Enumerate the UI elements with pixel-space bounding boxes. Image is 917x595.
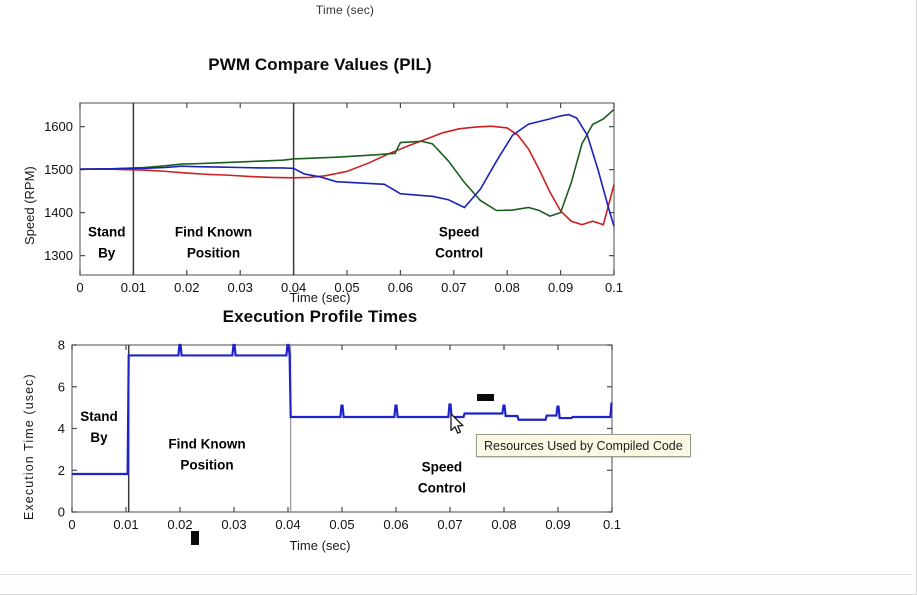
phase-annotation: Position [187, 245, 240, 260]
chart-exec-x-axis-label: Time (sec) [0, 538, 640, 553]
stray-axis-label-top: Time (sec) [0, 3, 690, 17]
phase-annotation: Control [435, 245, 483, 260]
y-tick-label: 1500 [44, 162, 73, 177]
phase-annotation: By [98, 245, 116, 260]
mouse-pointer-icon [450, 413, 466, 437]
plot-frame [72, 345, 612, 512]
plot-frame [80, 103, 614, 275]
phase-annotation: Position [180, 457, 233, 472]
chart-exec-plot-area[interactable]: 00.010.020.030.040.050.060.070.080.090.1… [0, 305, 720, 537]
x-tick-label: 0.03 [221, 517, 246, 532]
x-tick-label: 0.02 [174, 280, 199, 295]
x-tick-label: 0.06 [388, 280, 413, 295]
page-bottom-divider [0, 574, 912, 575]
series-phase-a [80, 126, 614, 224]
x-tick-label: 0.07 [441, 280, 466, 295]
x-tick-label: 0.04 [281, 280, 306, 295]
x-tick-label: 0.08 [491, 517, 516, 532]
x-tick-label: 0.02 [167, 517, 192, 532]
y-tick-label: 1400 [44, 205, 73, 220]
x-tick-label: 0.05 [329, 517, 354, 532]
phase-annotation: Find Known [175, 224, 252, 239]
phase-annotation: Speed [422, 459, 463, 474]
x-tick-label: 0.1 [603, 517, 621, 532]
phase-annotation: Speed [439, 224, 480, 239]
x-tick-label: 0.01 [121, 280, 146, 295]
compression-artifact-block [191, 531, 199, 545]
compression-artifact-block [477, 394, 494, 401]
y-tick-label: 1600 [44, 119, 73, 134]
y-tick-label: 0 [58, 505, 65, 520]
chart-pwm-compare-values: PWM Compare Values (PIL) Speed (RPM) Tim… [0, 55, 700, 310]
x-tick-label: 0 [76, 280, 83, 295]
chart-pwm-plot-area[interactable]: 00.010.020.030.040.050.060.070.080.090.1… [0, 55, 700, 290]
tooltip-resources-used: Resources Used by Compiled Code [476, 434, 691, 457]
x-tick-label: 0.07 [437, 517, 462, 532]
x-tick-label: 0.06 [383, 517, 408, 532]
y-tick-label: 6 [58, 379, 65, 394]
x-tick-label: 0.05 [334, 280, 359, 295]
x-tick-label: 0.03 [228, 280, 253, 295]
phase-annotation: Stand [88, 224, 126, 239]
x-tick-label: 0.04 [275, 517, 300, 532]
document-page: Time (sec) PWM Compare Values (PIL) Spee… [0, 0, 912, 575]
chart-pwm-x-axis-label: Time (sec) [0, 290, 640, 305]
x-tick-label: 0 [68, 517, 75, 532]
y-tick-label: 4 [58, 421, 65, 436]
y-tick-label: 2 [58, 463, 65, 478]
x-tick-label: 0.1 [605, 280, 623, 295]
phase-annotation: Control [418, 480, 466, 495]
phase-annotation: By [90, 430, 108, 445]
x-tick-label: 0.08 [495, 280, 520, 295]
y-tick-label: 8 [58, 338, 65, 353]
y-tick-label: 1300 [44, 248, 73, 263]
x-tick-label: 0.09 [548, 280, 573, 295]
tooltip-text: Resources Used by Compiled Code [484, 439, 683, 453]
x-tick-label: 0.09 [545, 517, 570, 532]
phase-annotation: Stand [80, 409, 118, 424]
series-phase-b [80, 109, 614, 216]
phase-annotation: Find Known [168, 436, 245, 451]
application-window: Time (sec) PWM Compare Values (PIL) Spee… [0, 0, 917, 595]
x-tick-label: 0.01 [113, 517, 138, 532]
